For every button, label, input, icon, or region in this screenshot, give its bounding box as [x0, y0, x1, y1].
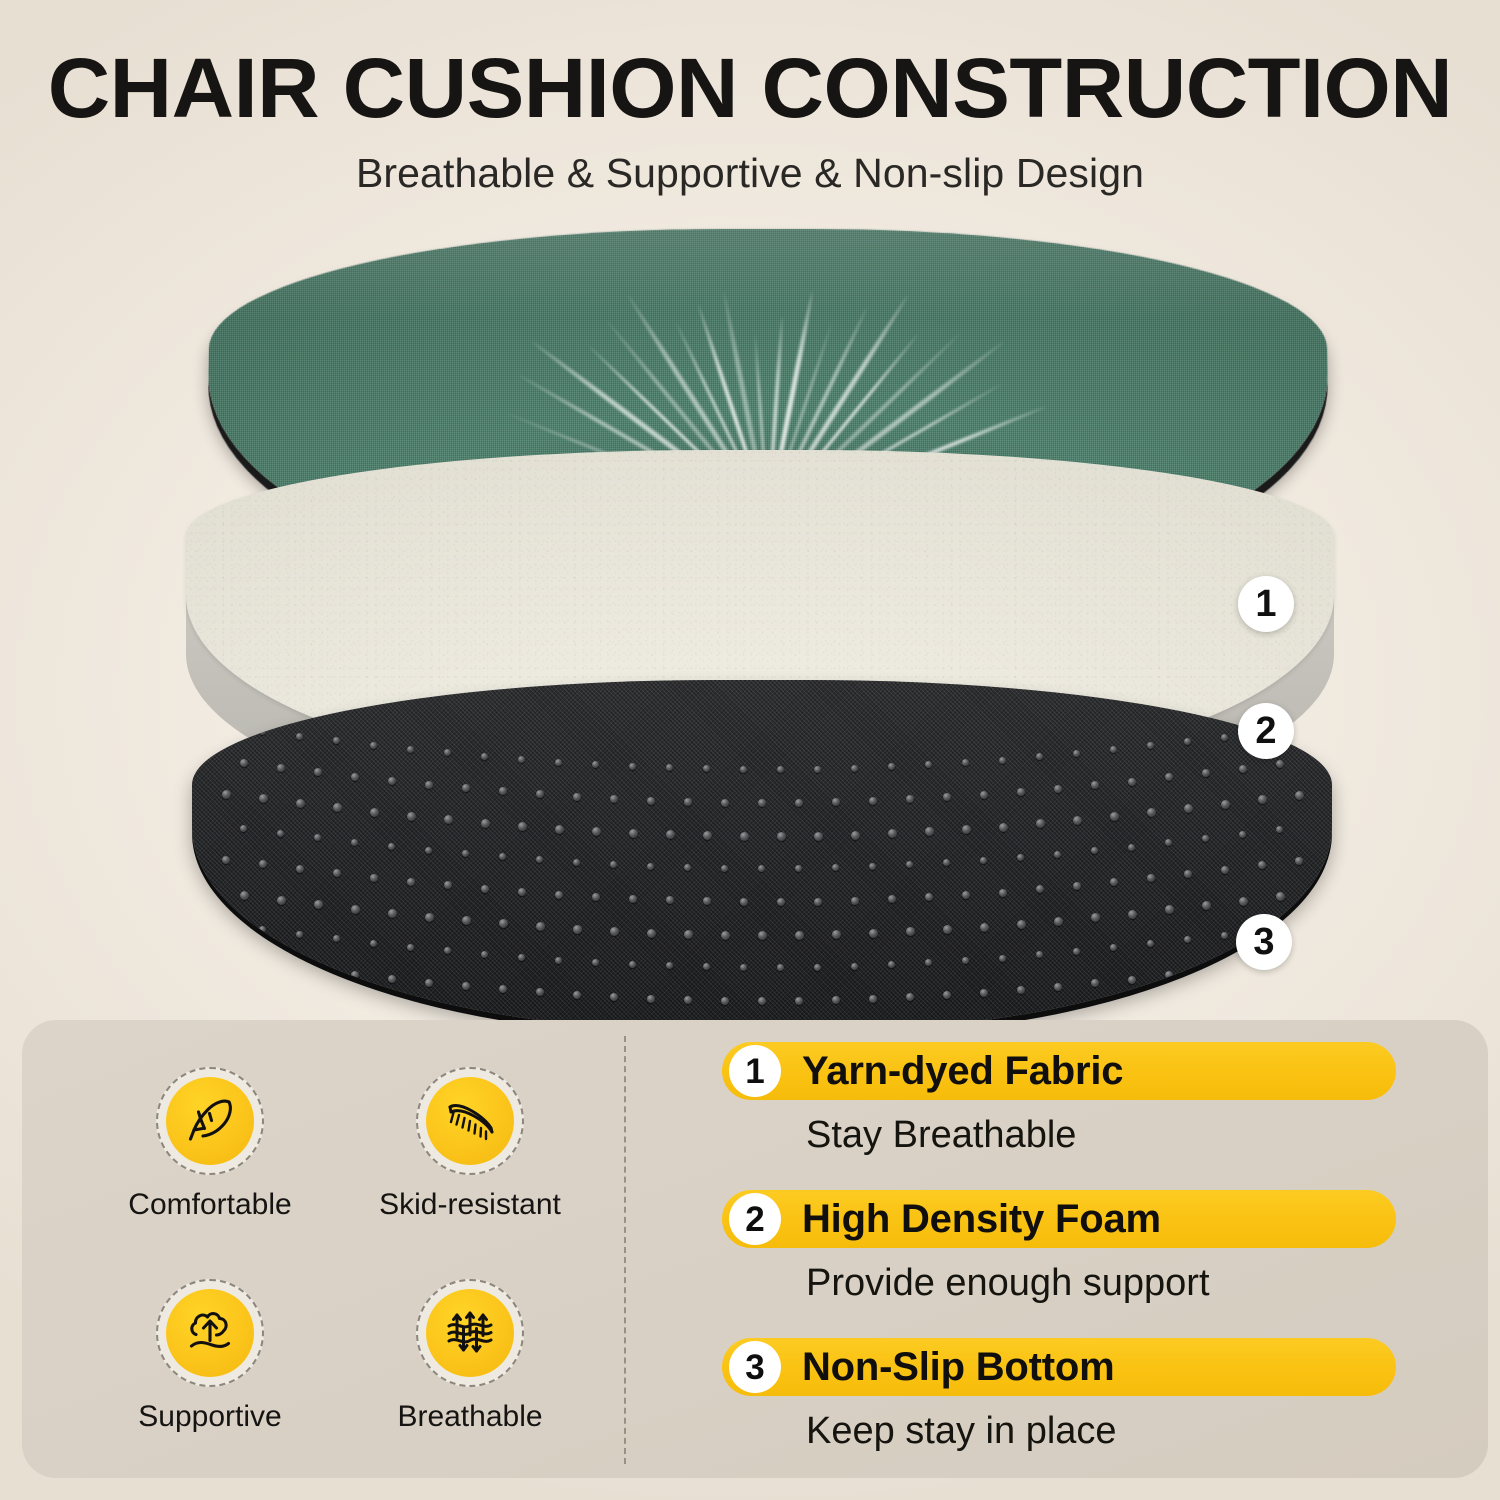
feature-comfortable[interactable]: Comfortable — [80, 1038, 340, 1250]
callout-badge-3: 3 — [1236, 914, 1292, 970]
feature-disc — [166, 1077, 254, 1165]
feature-label: Supportive — [138, 1400, 281, 1434]
feature-disc — [166, 1289, 254, 1377]
benefit-item-2[interactable]: 2 High Density Foam Provide enough suppo… — [722, 1190, 1422, 1305]
feather-icon — [181, 1092, 239, 1150]
page-subtitle: Breathable & Supportive & Non-slip Desig… — [0, 150, 1500, 197]
feature-label: Skid-resistant — [379, 1188, 561, 1222]
benefit-number: 3 — [729, 1341, 781, 1393]
benefit-pill: 1 Yarn-dyed Fabric — [722, 1042, 1396, 1100]
feature-ring — [156, 1067, 264, 1175]
benefit-number: 2 — [729, 1193, 781, 1245]
benefit-number: 1 — [729, 1045, 781, 1097]
benefit-subtitle: Provide enough support — [806, 1262, 1422, 1305]
callout-badge-2: 2 — [1238, 703, 1294, 759]
benefits-list: 1 Yarn-dyed Fabric Stay Breathable 2 Hig… — [722, 1042, 1468, 1466]
grip-strip-icon — [441, 1092, 499, 1150]
panel-divider — [624, 1036, 626, 1464]
benefit-item-3[interactable]: 3 Non-Slip Bottom Keep stay in place — [722, 1338, 1422, 1453]
airflow-waves-icon — [441, 1304, 499, 1362]
benefit-subtitle: Keep stay in place — [806, 1410, 1422, 1453]
page-title: CHAIR CUSHION CONSTRUCTION — [0, 46, 1500, 130]
feature-disc — [426, 1077, 514, 1165]
feature-ring — [156, 1279, 264, 1387]
silicone-grip-dots — [192, 680, 1332, 1030]
benefit-title: High Density Foam — [802, 1197, 1161, 1242]
benefit-item-1[interactable]: 1 Yarn-dyed Fabric Stay Breathable — [722, 1042, 1422, 1157]
benefit-pill: 3 Non-Slip Bottom — [722, 1338, 1396, 1396]
benefit-pill: 2 High Density Foam — [722, 1190, 1396, 1248]
feature-supportive[interactable]: Supportive — [80, 1250, 340, 1462]
feature-disc — [426, 1289, 514, 1377]
feature-ring — [416, 1067, 524, 1175]
product-exploded-view: 1 2 3 — [0, 200, 1500, 1020]
feature-icon-grid: Comfortable — [80, 1038, 600, 1462]
cloud-uplift-icon — [181, 1304, 239, 1362]
header: CHAIR CUSHION CONSTRUCTION Breathable & … — [0, 46, 1500, 197]
feature-skid-resistant[interactable]: Skid-resistant — [340, 1038, 600, 1250]
feature-label: Breathable — [397, 1400, 542, 1434]
benefit-subtitle: Stay Breathable — [806, 1114, 1422, 1157]
benefit-title: Non-Slip Bottom — [802, 1345, 1115, 1390]
benefit-title: Yarn-dyed Fabric — [802, 1049, 1123, 1094]
feature-breathable[interactable]: Breathable — [340, 1250, 600, 1462]
feature-ring — [416, 1279, 524, 1387]
infographic-page: CHAIR CUSHION CONSTRUCTION Breathable & … — [0, 0, 1500, 1500]
callout-badge-1: 1 — [1238, 576, 1294, 632]
feature-label: Comfortable — [128, 1188, 291, 1222]
features-panel: Comfortable — [22, 1020, 1488, 1478]
layer-non-slip-bottom — [192, 680, 1332, 1030]
